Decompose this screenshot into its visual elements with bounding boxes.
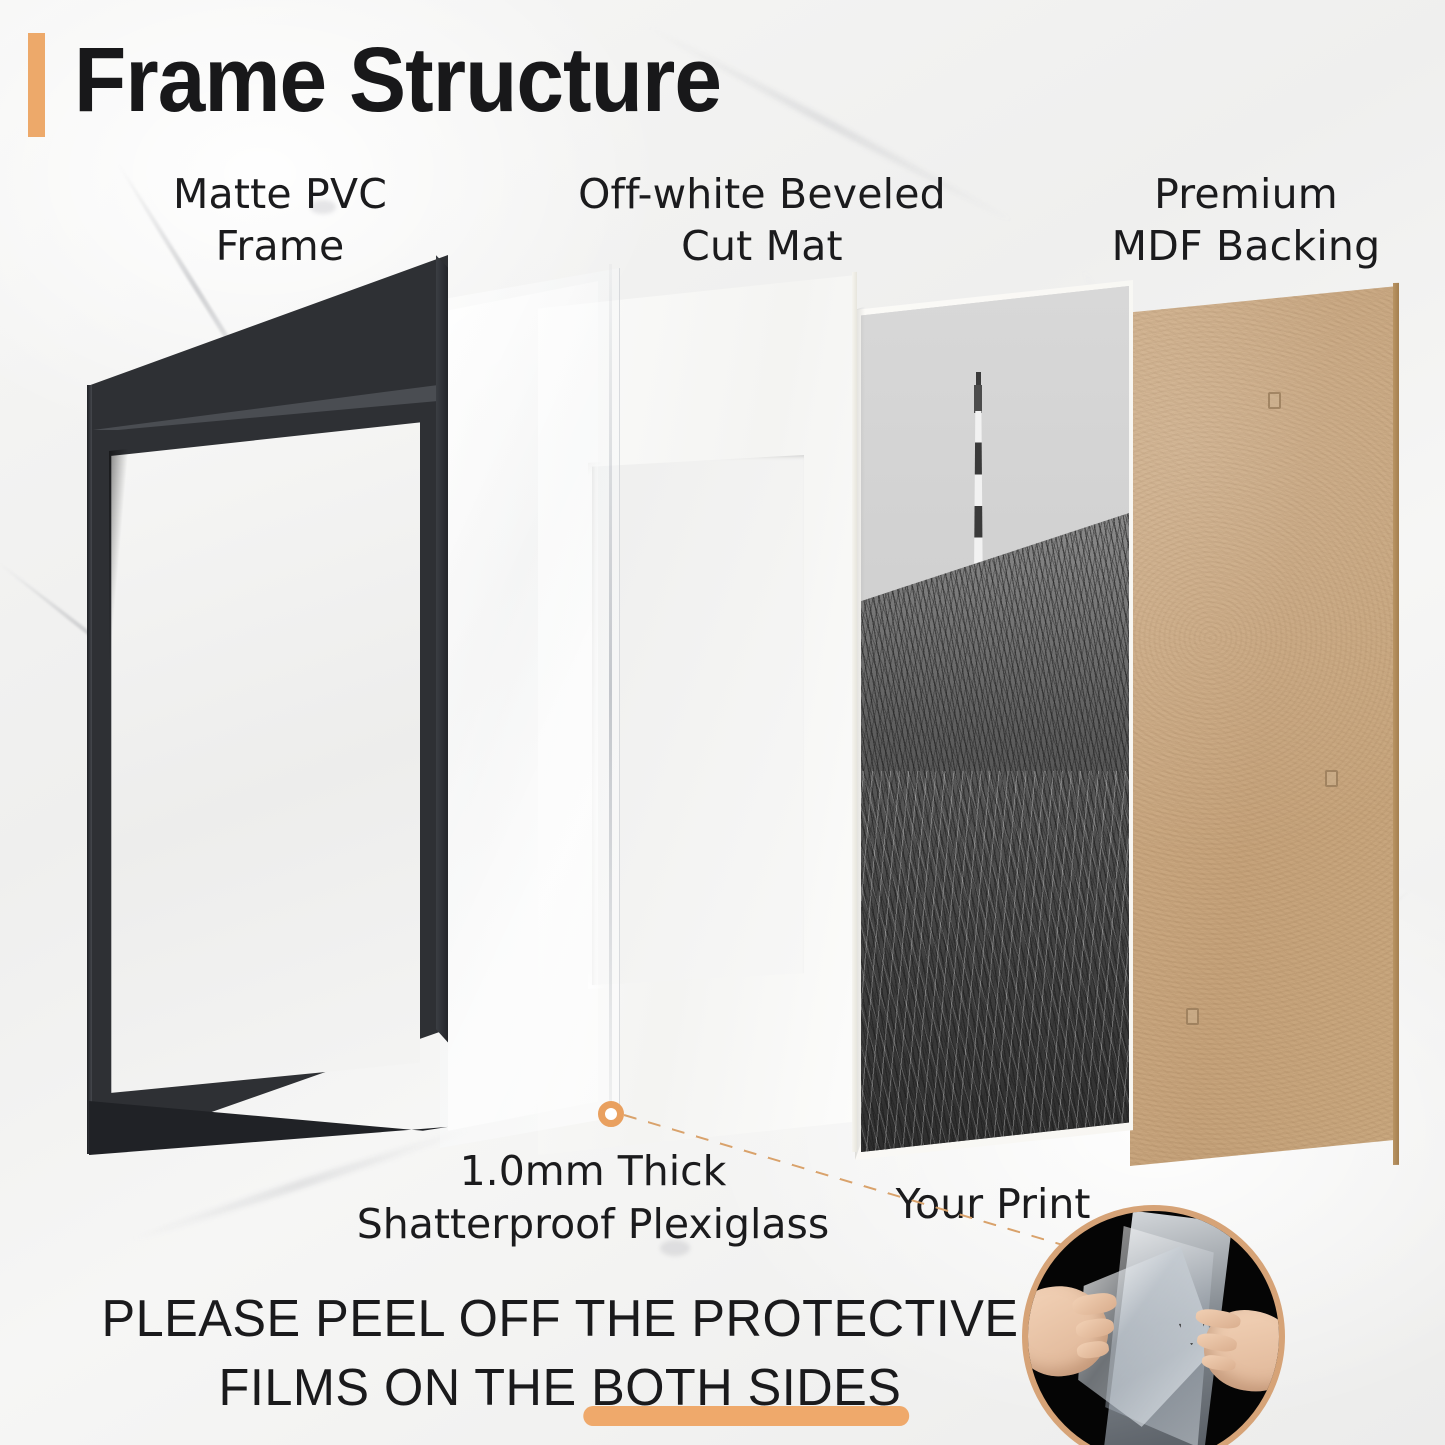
label-cut-mat: Off-white Beveled Cut Mat	[547, 168, 977, 273]
footer-line-1: PLEASE PEEL OFF THE PROTECTIVE	[75, 1285, 1045, 1354]
infographic-canvas: Frame Structure Matte PV	[0, 0, 1445, 1445]
staple-mark	[1268, 392, 1281, 409]
footer-highlight-wrap: BOTH SIDES	[591, 1354, 901, 1423]
label-line-2: Frame	[98, 220, 462, 272]
lighthouse-top	[976, 372, 981, 385]
frame-inner-shadow	[109, 417, 424, 1097]
label-mdf-backing: Premium MDF Backing	[1066, 168, 1426, 273]
label-line-2: Cut Mat	[547, 220, 977, 272]
mdf-grain-texture	[1130, 286, 1398, 1166]
pvc-frame	[78, 255, 448, 1155]
label-line-1: Matte PVC	[98, 168, 462, 220]
footer-line-2-highlight: BOTH SIDES	[591, 1359, 901, 1417]
label-line-1: Premium	[1066, 168, 1426, 220]
callout-marker-dot	[598, 1101, 624, 1127]
plexiglass-edge	[609, 264, 612, 1120]
photo-dune-grass	[861, 494, 1129, 1152]
plexiglass-sheen	[448, 276, 598, 1136]
label-line-1: Off-white Beveled	[547, 168, 977, 220]
title-accent-bar	[28, 33, 45, 137]
frame-right-bevel	[436, 255, 448, 1155]
print-photo	[861, 286, 1129, 1152]
lighthouse-lamp	[974, 385, 982, 414]
mat-window-opening	[592, 455, 804, 985]
mat-edge	[852, 272, 857, 1152]
staple-mark	[1186, 1008, 1199, 1025]
staple-mark	[1325, 770, 1338, 787]
footer-instruction: PLEASE PEEL OFF THE PROTECTIVE FILMS ON …	[75, 1285, 1045, 1422]
mdf-edge	[1393, 283, 1399, 1165]
frame-left-rail	[87, 385, 93, 1155]
label-matte-pvc-frame: Matte PVC Frame	[98, 168, 462, 273]
label-line-2: MDF Backing	[1066, 220, 1426, 272]
footer-line-2-prefix: FILMS ON THE	[219, 1359, 592, 1417]
photo-grass-highlights	[861, 771, 1129, 1152]
footer-line-2: FILMS ON THE BOTH SIDES	[75, 1354, 1045, 1423]
page-title: Frame Structure	[74, 28, 721, 134]
